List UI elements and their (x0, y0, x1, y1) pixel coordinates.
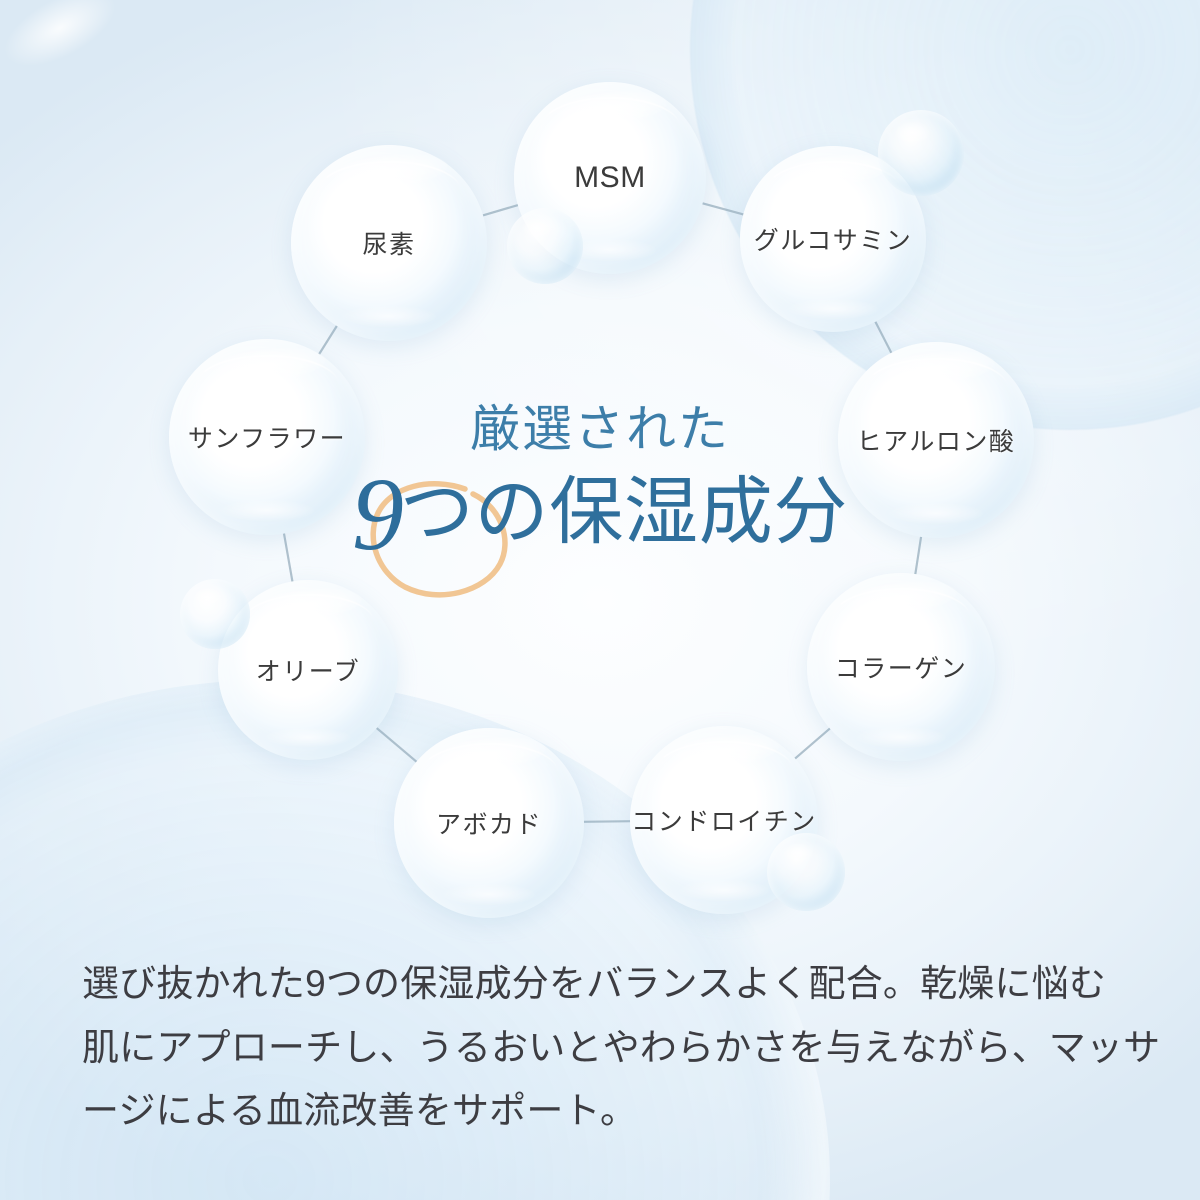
connector-chondroitin-to-avocado (582, 821, 632, 822)
infographic-canvas: MSMグルコサミンヒアルロン酸コラーゲンコンドロイチンアボカドオリーブサンフラワ… (0, 0, 1200, 1200)
bubble-highlight-bottom (220, 500, 314, 522)
ingredient-label-msm: MSM (574, 161, 646, 195)
ingredient-bubble-sunflower[interactable]: サンフラワー (169, 339, 365, 535)
connector-glucosamine-to-hyaluronic (875, 320, 893, 355)
ingredient-label-urea: 尿素 (362, 225, 415, 261)
connector-collagen-to-chondroitin (794, 727, 832, 760)
bubble-highlight-bottom (889, 503, 983, 525)
bubble-highlight-bottom (856, 727, 946, 748)
description-line-1: 選び抜かれた9つの保湿成分をバランスよく配合。乾燥に悩む (82, 952, 1132, 1016)
description-line-2: 肌にアプローチし、うるおいとやわらかさを与えながら、マッサ (82, 1016, 1132, 1080)
bubble-highlight-bottom (443, 884, 534, 905)
ingredient-label-hyaluronic: ヒアルロン酸 (857, 422, 1016, 458)
connector-hyaluronic-to-collagen (915, 535, 921, 576)
decorative-bubble-middle-left (0, 300, 220, 720)
satellite-bubble-mini-glucosamine (878, 110, 964, 196)
connector-urea-to-msm (481, 205, 520, 216)
connector-msm-to-glucosamine (701, 203, 746, 215)
satellite-bubble-mini-olive (180, 579, 250, 649)
connector-olive-to-sunflower (284, 532, 293, 584)
ingredient-label-glucosamine: グルコサミン (754, 221, 913, 257)
bubble-highlight-bottom (788, 299, 877, 319)
hand-drawn-circle-accent (369, 480, 514, 598)
satellite-bubble-mini-chondroitin (767, 833, 845, 911)
ingredient-bubble-hyaluronic[interactable]: ヒアルロン酸 (838, 342, 1034, 538)
headline-line-2: つの保湿成分 (400, 475, 848, 553)
description-paragraph: 選び抜かれた9つの保湿成分をバランスよく配合。乾燥に悩む 肌にアプローチし、うる… (82, 952, 1132, 1143)
connector-sunflower-to-urea (318, 324, 338, 355)
headline-line-2-wrap: 9つの保湿成分 (352, 462, 848, 553)
decorative-highlight-top-right (0, 0, 126, 81)
bubble-highlight-bottom (679, 880, 769, 901)
headline-number-nine: 9 (352, 457, 402, 572)
satellite-bubble-mini-msm (507, 208, 583, 284)
ingredient-bubble-collagen[interactable]: コラーゲン (807, 573, 995, 761)
description-line-3: ージによる血流改善をサポート。 (82, 1079, 1132, 1143)
ingredient-bubble-avocado[interactable]: アボカド (394, 728, 584, 918)
connector-avocado-to-olive (375, 727, 418, 763)
ingredient-label-olive: オリーブ (256, 652, 361, 688)
ingredient-label-sunflower: サンフラワー (188, 419, 346, 455)
ingredient-label-avocado: アボカド (436, 805, 542, 841)
bubble-highlight-bottom (342, 306, 436, 328)
ingredient-bubble-urea[interactable]: 尿素 (291, 145, 487, 341)
ingredient-label-collagen: コラーゲン (835, 649, 968, 685)
ingredient-label-chondroitin: コンドロイチン (631, 802, 817, 838)
